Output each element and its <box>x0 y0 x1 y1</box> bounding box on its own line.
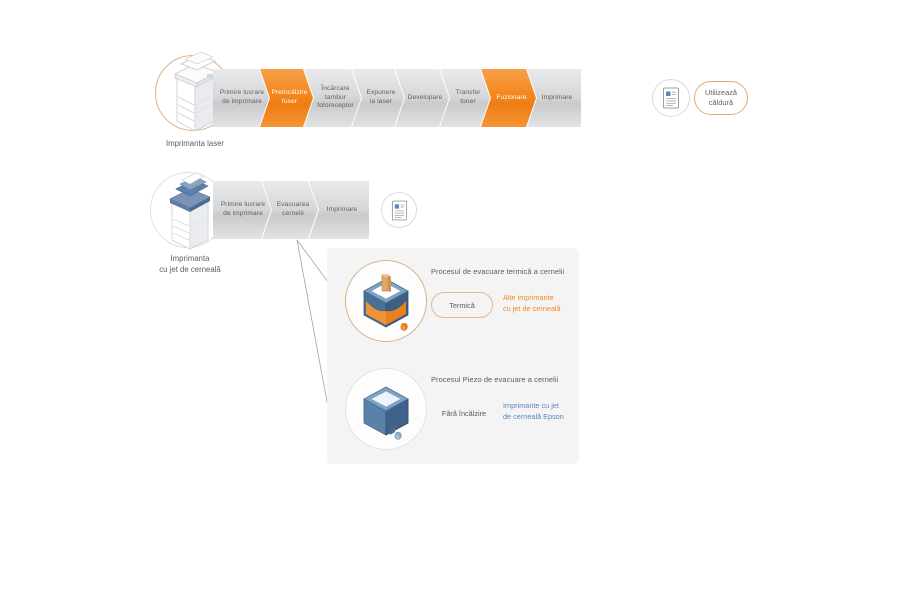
flow-step-label: Încărcare tambur fotoreceptor <box>314 85 357 112</box>
document-icon <box>391 200 408 221</box>
flow-step-inkjet-3[interactable]: Imprimare <box>309 181 369 239</box>
inkjet-output-document-circle[interactable] <box>381 192 417 228</box>
laser-printer-label: Imprimanta laser <box>133 139 257 150</box>
thermal-row-tag[interactable]: Termică <box>431 292 493 318</box>
flow-step-label: Imprimare <box>537 94 577 103</box>
flow-step-label: Primire lucrare de imprimare <box>219 201 267 219</box>
flow-step-label: Expunere la laser <box>362 89 400 107</box>
piezo-row-note: Imprimante cu jet de cerneală Epson <box>503 401 564 422</box>
flow-step-label: Imprimare <box>319 206 365 215</box>
flow-step-label: Primire lucrare de imprimare <box>219 89 265 107</box>
flow-step-label: Transfer toner <box>450 89 486 107</box>
flow-step-label: Preîncălzire fuser <box>270 89 309 107</box>
flow-step-label: Developare <box>405 94 445 103</box>
piezo-row-tag[interactable]: Fără încălzire <box>427 400 501 426</box>
thermal-ink-chamber-circle[interactable] <box>345 260 427 342</box>
piezo-row-title: Procesul Piezo de evacuare a cernelii <box>431 375 558 384</box>
flow-step-label: Evacuarea cernelii <box>272 201 314 219</box>
flow-step-inkjet-1[interactable]: Primire lucrare de imprimare <box>213 181 271 239</box>
flow-step-laser-1[interactable]: Primire lucrare de imprimare <box>213 69 269 127</box>
infographic-canvas: Imprimanta laser Primire lucrare de impr… <box>0 0 900 600</box>
laser-output-document-circle[interactable] <box>652 79 690 117</box>
piezo-ink-chamber-circle[interactable] <box>345 368 427 450</box>
inkjet-process-flow: Primire lucrare de imprimare Evacuarea c… <box>213 181 369 239</box>
panel-row-piezo: Procesul Piezo de evacuare a cernelii Fă… <box>327 356 579 464</box>
ink-ejection-detail-panel: Procesul de evacuare termică a cernelii … <box>327 248 579 464</box>
thermal-row-title: Procesul de evacuare termică a cernelii <box>431 267 564 276</box>
flow-step-label: Fuzionare <box>491 94 532 103</box>
thermal-ink-chamber-icon <box>346 261 426 341</box>
piezo-ink-chamber-icon <box>346 369 426 449</box>
laser-process-flow: Primire lucrare de imprimare Preîncălzir… <box>213 69 581 127</box>
uses-heat-pill[interactable]: Utilizează căldură <box>694 81 748 115</box>
document-icon <box>662 87 680 109</box>
thermal-row-note: Alte imprimante cu jet de cerneală <box>503 293 561 314</box>
panel-row-thermal: Procesul de evacuare termică a cernelii … <box>327 248 579 356</box>
inkjet-printer-label: Imprimanta cu jet de cerneală <box>128 254 252 275</box>
